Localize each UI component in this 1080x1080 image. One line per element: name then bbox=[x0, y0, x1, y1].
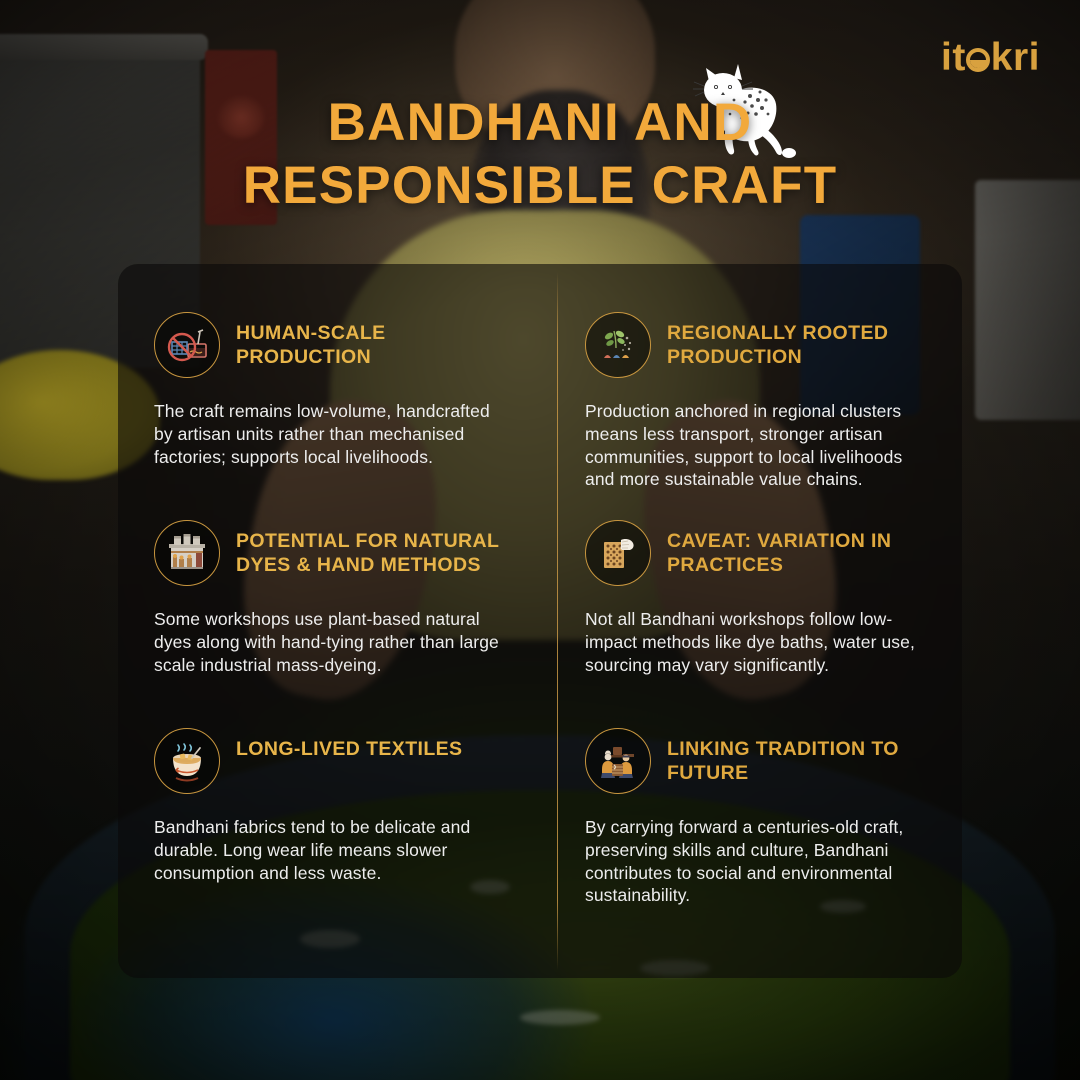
basket-icon bbox=[966, 48, 990, 72]
card-header: REGIONALLY ROOTED PRODUCTION bbox=[585, 312, 932, 378]
card-body: The craft remains low-volume, handcrafte… bbox=[154, 400, 517, 468]
page-title-line-2: RESPONSIBLE CRAFT bbox=[0, 155, 1080, 218]
page-title-line-1: BANDHANI AND bbox=[0, 92, 1080, 155]
card-title: CAVEAT: VARIATION IN PRACTICES bbox=[667, 520, 932, 578]
steaming-dye-pot-icon bbox=[154, 728, 220, 794]
logo-text-it: it bbox=[941, 36, 966, 79]
card-header: POTENTIAL FOR NATURAL DYES & HAND METHOD… bbox=[154, 520, 517, 586]
card-regionally-rooted-production: REGIONALLY ROOTED PRODUCTION Production … bbox=[557, 264, 962, 472]
plant-seedling-icon bbox=[585, 312, 651, 378]
logo-text-kri: kri bbox=[991, 36, 1040, 79]
card-human-scale-production: HUMAN-SCALE PRODUCTION The craft remains… bbox=[118, 264, 557, 472]
card-body: Bandhani fabrics tend to be delicate and… bbox=[154, 816, 517, 884]
card-title: POTENTIAL FOR NATURAL DYES & HAND METHOD… bbox=[236, 520, 517, 578]
card-title: HUMAN-SCALE PRODUCTION bbox=[236, 312, 517, 370]
content-panel: HUMAN-SCALE PRODUCTION The craft remains… bbox=[118, 264, 962, 978]
card-header: CAVEAT: VARIATION IN PRACTICES bbox=[585, 520, 932, 586]
card-body: By carrying forward a centuries-old craf… bbox=[585, 816, 932, 907]
two-artisans-weaving-icon bbox=[585, 728, 651, 794]
header: itkri BANDHANI AND RESPONSIBL bbox=[0, 0, 1080, 250]
card-linking-tradition-future: LINKING TRADITION TO FUTURE By carrying … bbox=[557, 680, 962, 910]
hand-holding-patterned-fabric-icon bbox=[585, 520, 651, 586]
card-body: Not all Bandhani workshops follow low-im… bbox=[585, 608, 932, 676]
card-header: HUMAN-SCALE PRODUCTION bbox=[154, 312, 517, 378]
card-title: LONG-LIVED TEXTILES bbox=[236, 728, 462, 762]
card-header: LONG-LIVED TEXTILES bbox=[154, 728, 517, 794]
card-title: LINKING TRADITION TO FUTURE bbox=[667, 728, 932, 786]
card-long-lived-textiles: LONG-LIVED TEXTILES Bandhani fabrics ten… bbox=[118, 680, 557, 910]
card-title: REGIONALLY ROOTED PRODUCTION bbox=[667, 312, 932, 370]
brand-logo[interactable]: itkri bbox=[941, 38, 1040, 77]
craft-workshop-shop-icon bbox=[154, 520, 220, 586]
card-caveat-variation-practices: CAVEAT: VARIATION IN PRACTICES Not all B… bbox=[557, 472, 962, 680]
card-header: LINKING TRADITION TO FUTURE bbox=[585, 728, 932, 794]
page-title: BANDHANI AND RESPONSIBLE CRAFT bbox=[0, 92, 1080, 217]
card-body: Some workshops use plant-based natural d… bbox=[154, 608, 517, 676]
cards-grid: HUMAN-SCALE PRODUCTION The craft remains… bbox=[118, 264, 962, 978]
card-potential-natural-dyes: POTENTIAL FOR NATURAL DYES & HAND METHOD… bbox=[118, 472, 557, 680]
no-factory-machine-icon bbox=[154, 312, 220, 378]
